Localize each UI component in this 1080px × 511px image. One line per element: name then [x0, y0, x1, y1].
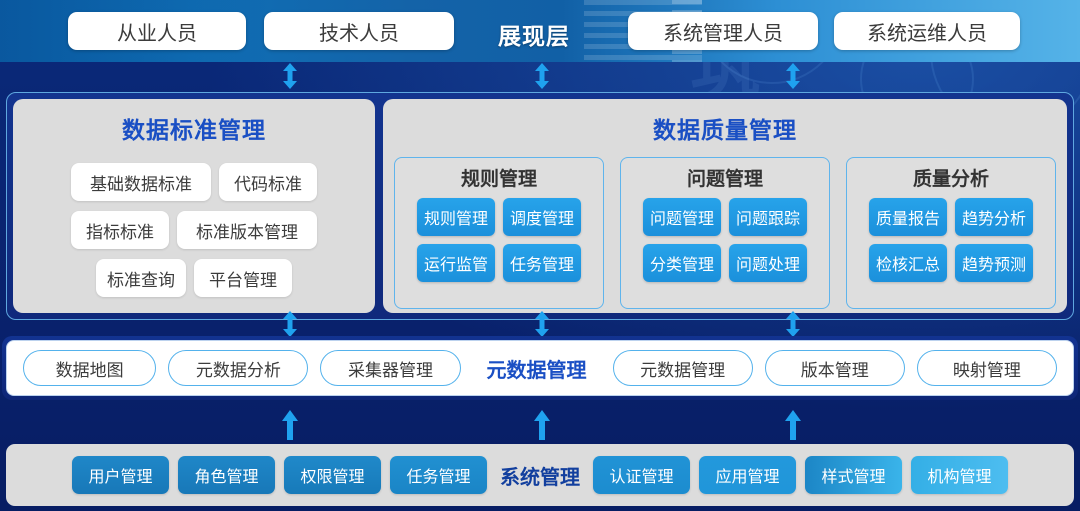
btn-label: 问题处理: [736, 251, 800, 275]
pill-metadata-analysis[interactable]: 元数据分析: [168, 350, 308, 386]
data-standard-title: 数据标准管理: [13, 111, 375, 145]
btn-auth-management[interactable]: 认证管理: [593, 456, 690, 494]
btn-permission-management[interactable]: 权限管理: [284, 456, 381, 494]
pill-collector-management[interactable]: 采集器管理: [320, 350, 460, 386]
btn-label: 机构管理: [927, 463, 991, 487]
btn-label: 角色管理: [194, 463, 258, 487]
btn-issue-tracking[interactable]: 问题跟踪: [729, 198, 807, 236]
btn-label: 样式管理: [821, 463, 885, 487]
metadata-row: 数据地图 元数据分析 采集器管理 元数据管理 元数据管理 版本管理 映射管理: [6, 340, 1074, 396]
pill-label: 映射管理: [953, 356, 1021, 381]
btn-label: 认证管理: [609, 463, 673, 487]
data-standard-card: 数据标准管理 基础数据标准 代码标准 指标标准 标准版本管理 标准查询 平台管理: [13, 99, 375, 313]
btn-label: 调度管理: [510, 205, 574, 229]
btn-task-management[interactable]: 任务管理: [503, 244, 581, 282]
chip-standard-query[interactable]: 标准查询: [96, 259, 186, 297]
btn-schedule-management[interactable]: 调度管理: [503, 198, 581, 236]
btn-label: 任务管理: [510, 251, 574, 275]
architecture-diagram: 筑 从业人员 技术人员 展现层 系统管理人员 系统运维人员 数据标准管理: [0, 0, 1080, 511]
double-arrow-vertical-icon: [533, 310, 551, 338]
btn-issue-management[interactable]: 问题管理: [643, 198, 721, 236]
metadata-row-title: 元数据管理: [487, 354, 587, 383]
btn-label: 规则管理: [424, 205, 488, 229]
pill-data-map[interactable]: 数据地图: [23, 350, 156, 386]
btn-label: 趋势预测: [962, 251, 1026, 275]
chip-indicator-standard[interactable]: 指标标准: [71, 211, 169, 249]
arrow-up-icon: [784, 410, 802, 440]
chip-platform-mgmt[interactable]: 平台管理: [194, 259, 292, 297]
subcard-buttons: 规则管理 调度管理 运行监管 任务管理: [417, 198, 581, 282]
banner-title: 展现层: [498, 17, 570, 51]
subcard-buttons: 质量报告 趋势分析 检核汇总 趋势预测: [869, 198, 1033, 282]
chip-label: 指标标准: [86, 218, 154, 243]
subcard-quality-analysis: 质量分析 质量报告 趋势分析 检核汇总 趋势预测: [846, 157, 1056, 309]
arrow-up-icon: [281, 410, 299, 440]
data-quality-card: 数据质量管理 规则管理 规则管理 调度管理 运行监管 任务管理 问题管理 问题管…: [383, 99, 1067, 313]
btn-org-management[interactable]: 机构管理: [911, 456, 1008, 494]
system-management-row: 用户管理 角色管理 权限管理 任务管理 系统管理 认证管理 应用管理 样式管理 …: [6, 444, 1074, 506]
pill-version-management[interactable]: 版本管理: [765, 350, 905, 386]
btn-label: 分类管理: [650, 251, 714, 275]
btn-label: 权限管理: [300, 463, 364, 487]
double-arrow-vertical-icon: [784, 62, 802, 90]
btn-label: 用户管理: [88, 463, 152, 487]
pill-metadata-management[interactable]: 元数据管理: [613, 350, 753, 386]
pill-label: 数据地图: [56, 356, 124, 381]
btn-issue-handling[interactable]: 问题处理: [729, 244, 807, 282]
pill-mapping-management[interactable]: 映射管理: [917, 350, 1057, 386]
chip-label: 基础数据标准: [90, 170, 192, 195]
role-chip-2[interactable]: 系统管理人员: [628, 12, 818, 50]
pill-label: 版本管理: [801, 356, 869, 381]
pill-label: 元数据管理: [640, 356, 725, 381]
data-standard-items: 基础数据标准 代码标准 指标标准 标准版本管理 标准查询 平台管理: [13, 163, 375, 297]
subcard-title: 质量分析: [913, 164, 989, 191]
system-row-title: 系统管理: [496, 461, 584, 490]
btn-rule-management[interactable]: 规则管理: [417, 198, 495, 236]
btn-label: 问题管理: [650, 205, 714, 229]
chip-standard-version-mgmt[interactable]: 标准版本管理: [177, 211, 317, 249]
pill-label: 元数据分析: [196, 356, 281, 381]
btn-quality-report[interactable]: 质量报告: [869, 198, 947, 236]
btn-role-management[interactable]: 角色管理: [178, 456, 275, 494]
subcard-issue-management: 问题管理 问题管理 问题跟踪 分类管理 问题处理: [620, 157, 830, 309]
subcard-rule-management: 规则管理 规则管理 调度管理 运行监管 任务管理: [394, 157, 604, 309]
arrow-up-icon: [533, 410, 551, 440]
role-chip-label: 从业人员: [117, 17, 197, 46]
double-arrow-vertical-icon: [533, 62, 551, 90]
chip-code-standard[interactable]: 代码标准: [219, 163, 317, 201]
subcard-title: 规则管理: [461, 164, 537, 191]
role-chip-3[interactable]: 系统运维人员: [834, 12, 1020, 50]
chip-label: 代码标准: [234, 170, 302, 195]
btn-label: 检核汇总: [876, 251, 940, 275]
btn-label: 趋势分析: [962, 205, 1026, 229]
btn-trend-analysis[interactable]: 趋势分析: [955, 198, 1033, 236]
btn-trend-forecast[interactable]: 趋势预测: [955, 244, 1033, 282]
double-arrow-vertical-icon: [281, 62, 299, 90]
btn-label: 运行监管: [424, 251, 488, 275]
role-chip-1[interactable]: 技术人员: [264, 12, 454, 50]
double-arrow-vertical-icon: [281, 310, 299, 338]
chip-base-data-standard[interactable]: 基础数据标准: [71, 163, 211, 201]
btn-app-management[interactable]: 应用管理: [699, 456, 796, 494]
quality-subgroups: 规则管理 规则管理 调度管理 运行监管 任务管理 问题管理 问题管理 问题跟踪 …: [383, 157, 1067, 309]
data-quality-title: 数据质量管理: [383, 111, 1067, 145]
chip-label: 平台管理: [209, 266, 277, 291]
role-chip-label: 系统管理人员: [663, 17, 783, 46]
btn-user-management[interactable]: 用户管理: [72, 456, 169, 494]
role-chip-label: 系统运维人员: [867, 17, 987, 46]
btn-check-summary[interactable]: 检核汇总: [869, 244, 947, 282]
btn-label: 质量报告: [876, 205, 940, 229]
chip-label: 标准查询: [107, 266, 175, 291]
btn-style-management[interactable]: 样式管理: [805, 456, 902, 494]
pill-label: 采集器管理: [348, 356, 433, 381]
subcard-buttons: 问题管理 问题跟踪 分类管理 问题处理: [643, 198, 807, 282]
main-panel: 数据标准管理 基础数据标准 代码标准 指标标准 标准版本管理 标准查询 平台管理…: [6, 92, 1074, 320]
chip-label: 标准版本管理: [196, 218, 298, 243]
btn-label: 任务管理: [406, 463, 470, 487]
role-chip-0[interactable]: 从业人员: [68, 12, 246, 50]
role-chip-label: 技术人员: [319, 17, 399, 46]
subcard-title: 问题管理: [687, 164, 763, 191]
btn-run-monitoring[interactable]: 运行监管: [417, 244, 495, 282]
presentation-layer-banner: 从业人员 技术人员 展现层 系统管理人员 系统运维人员: [0, 0, 1080, 62]
double-arrow-vertical-icon: [784, 310, 802, 338]
btn-label: 应用管理: [715, 463, 779, 487]
btn-category-management[interactable]: 分类管理: [643, 244, 721, 282]
btn-task-management-sys[interactable]: 任务管理: [390, 456, 487, 494]
btn-label: 问题跟踪: [736, 205, 800, 229]
